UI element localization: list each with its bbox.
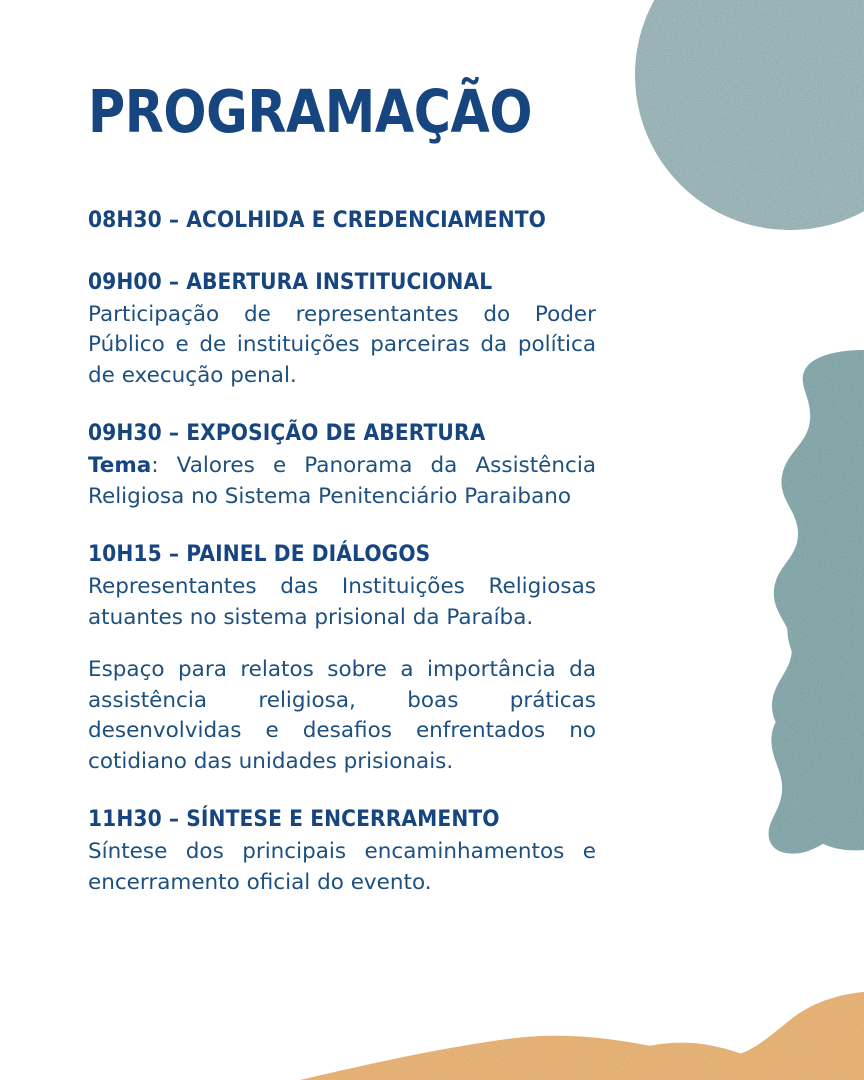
teal-circle-top-right — [635, 0, 864, 230]
schedule-item-heading: 11H30 – SÍNTESE E ENCERRAMENTO — [88, 807, 545, 833]
paragraph-text: : Valores e Panorama da Assistência Reli… — [88, 453, 596, 509]
spacer — [88, 238, 596, 270]
schedule-item-heading: 10H15 – PAINEL DE DIÁLOGOS — [88, 542, 545, 568]
schedule-item-heading: 09H30 – EXPOSIÇÃO DE ABERTURA — [88, 421, 545, 447]
schedule-item-heading: 09H00 – ABERTURA INSTITUCIONAL — [88, 270, 545, 296]
schedule-item-paragraph: Espaço para relatos sobre a importância … — [88, 655, 596, 777]
poster-content: PROGRAMAÇÃO 08H30 – ACOLHIDA E CREDENCIA… — [88, 0, 596, 898]
paragraph-lead-label: Tema — [88, 453, 151, 478]
teal-blob-right-edge-fill — [772, 350, 864, 850]
schedule-item-1130: 11H30 – SÍNTESE E ENCERRAMENTO Síntese d… — [88, 807, 596, 898]
sand-wave-bottom — [535, 996, 864, 1080]
schedule-list: 08H30 – ACOLHIDA E CREDENCIAMENTO 09H00 … — [88, 208, 596, 898]
schedule-item-paragraph: Tema: Valores e Panorama da Assistência … — [88, 451, 596, 512]
sand-wave-bottom-body — [300, 992, 864, 1080]
poster-canvas: PROGRAMAÇÃO 08H30 – ACOLHIDA E CREDENCIA… — [0, 0, 864, 1080]
schedule-item-heading: 08H30 – ACOLHIDA E CREDENCIAMENTO — [88, 208, 545, 234]
schedule-item-0830: 08H30 – ACOLHIDA E CREDENCIAMENTO — [88, 208, 596, 234]
spacer — [88, 391, 596, 421]
schedule-item-1015: 10H15 – PAINEL DE DIÁLOGOS Representante… — [88, 542, 596, 777]
teal-blob-right-edge — [769, 355, 864, 854]
schedule-item-0930: 09H30 – EXPOSIÇÃO DE ABERTURA Tema: Valo… — [88, 421, 596, 512]
page-title: PROGRAMAÇÃO — [88, 0, 525, 141]
spacer — [88, 512, 596, 542]
schedule-item-0900: 09H00 – ABERTURA INSTITUCIONAL Participa… — [88, 270, 596, 391]
schedule-item-paragraph: Representantes das Instituições Religios… — [88, 572, 596, 633]
schedule-item-paragraph: Síntese dos principais encaminhamentos e… — [88, 837, 596, 898]
spacer — [88, 777, 596, 807]
spacer — [88, 633, 596, 655]
schedule-item-paragraph: Participação de representantes do Poder … — [88, 300, 596, 392]
